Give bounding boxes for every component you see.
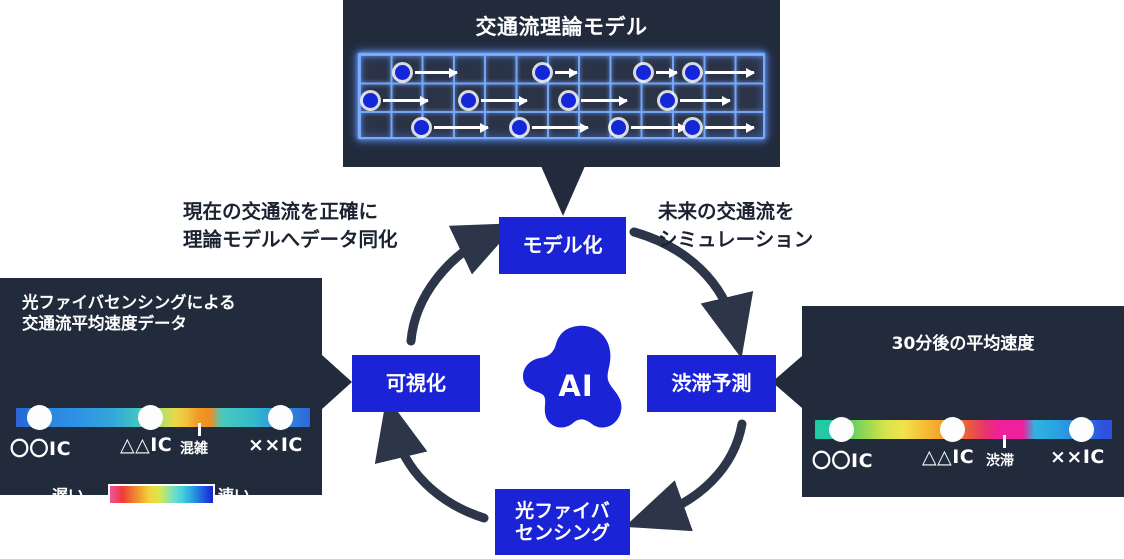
- right-panel-pointer: [772, 356, 802, 408]
- node-marker-2: [940, 417, 965, 442]
- caption-simulation: 未来の交通流を シミュレーション: [658, 198, 813, 253]
- node-marker-1: [829, 417, 854, 442]
- right-node-label-2: △△IC: [922, 446, 974, 468]
- congestion-tick-label: 混雑: [180, 438, 208, 458]
- diagram-canvas: 交通流理論モデル: [0, 0, 1124, 559]
- top-panel-traffic-model: 交通流理論モデル: [343, 0, 780, 167]
- top-panel-pointer: [541, 166, 585, 216]
- legend-caption: 平均速度: [86, 510, 150, 534]
- jam-tick: [1003, 435, 1006, 448]
- left-node-label-1: 〇〇IC: [10, 434, 71, 461]
- traffic-grid-icon: [357, 52, 766, 140]
- ai-label: AI: [558, 369, 593, 403]
- ai-blob-icon: AI: [516, 322, 636, 447]
- top-panel-title: 交通流理論モデル: [343, 14, 780, 41]
- left-panel-fiber-sensing-data: 光ファイバセンシングによる交通流平均速度データ 〇〇IC △△IC ××IC 混…: [0, 278, 322, 495]
- congestion-tick: [198, 423, 201, 436]
- cycle-box-sensing[interactable]: 光ファイバセンシング: [495, 489, 630, 555]
- cycle-box-visualization-label: 可視化: [386, 372, 446, 396]
- caption-data-assimilation: 現在の交通流を正確に 理論モデルへデータ同化: [183, 198, 398, 253]
- jam-tick-label: 渋滞: [986, 450, 1014, 470]
- legend-slow-label: 遅い: [52, 482, 84, 506]
- right-node-label-3: ××IC: [1050, 446, 1105, 468]
- right-node-label-1: 〇〇IC: [812, 446, 873, 473]
- cycle-box-visualization[interactable]: 可視化: [352, 355, 480, 412]
- node-marker-3: [1069, 417, 1094, 442]
- cycle-box-sensing-label: 光ファイバセンシング: [515, 500, 610, 545]
- cycle-box-prediction-label: 渋滞予測: [672, 372, 752, 396]
- cycle-box-modeling-label: モデル化: [523, 234, 603, 258]
- left-panel-pointer: [322, 355, 352, 409]
- cycle-box-modeling[interactable]: モデル化: [499, 217, 626, 274]
- left-node-label-3: ××IC: [248, 434, 303, 456]
- right-panel-title: 30分後の平均速度: [802, 334, 1124, 356]
- left-node-label-2: △△IC: [120, 434, 172, 456]
- left-panel-title: 光ファイバセンシングによる交通流平均速度データ: [22, 292, 322, 334]
- legend-fast-label: 速い: [218, 482, 250, 506]
- cycle-box-prediction[interactable]: 渋滞予測: [647, 355, 776, 412]
- right-panel-predicted-speed: 30分後の平均速度 〇〇IC △△IC ××IC 渋滞: [802, 306, 1124, 497]
- legend-gradient: [108, 484, 215, 505]
